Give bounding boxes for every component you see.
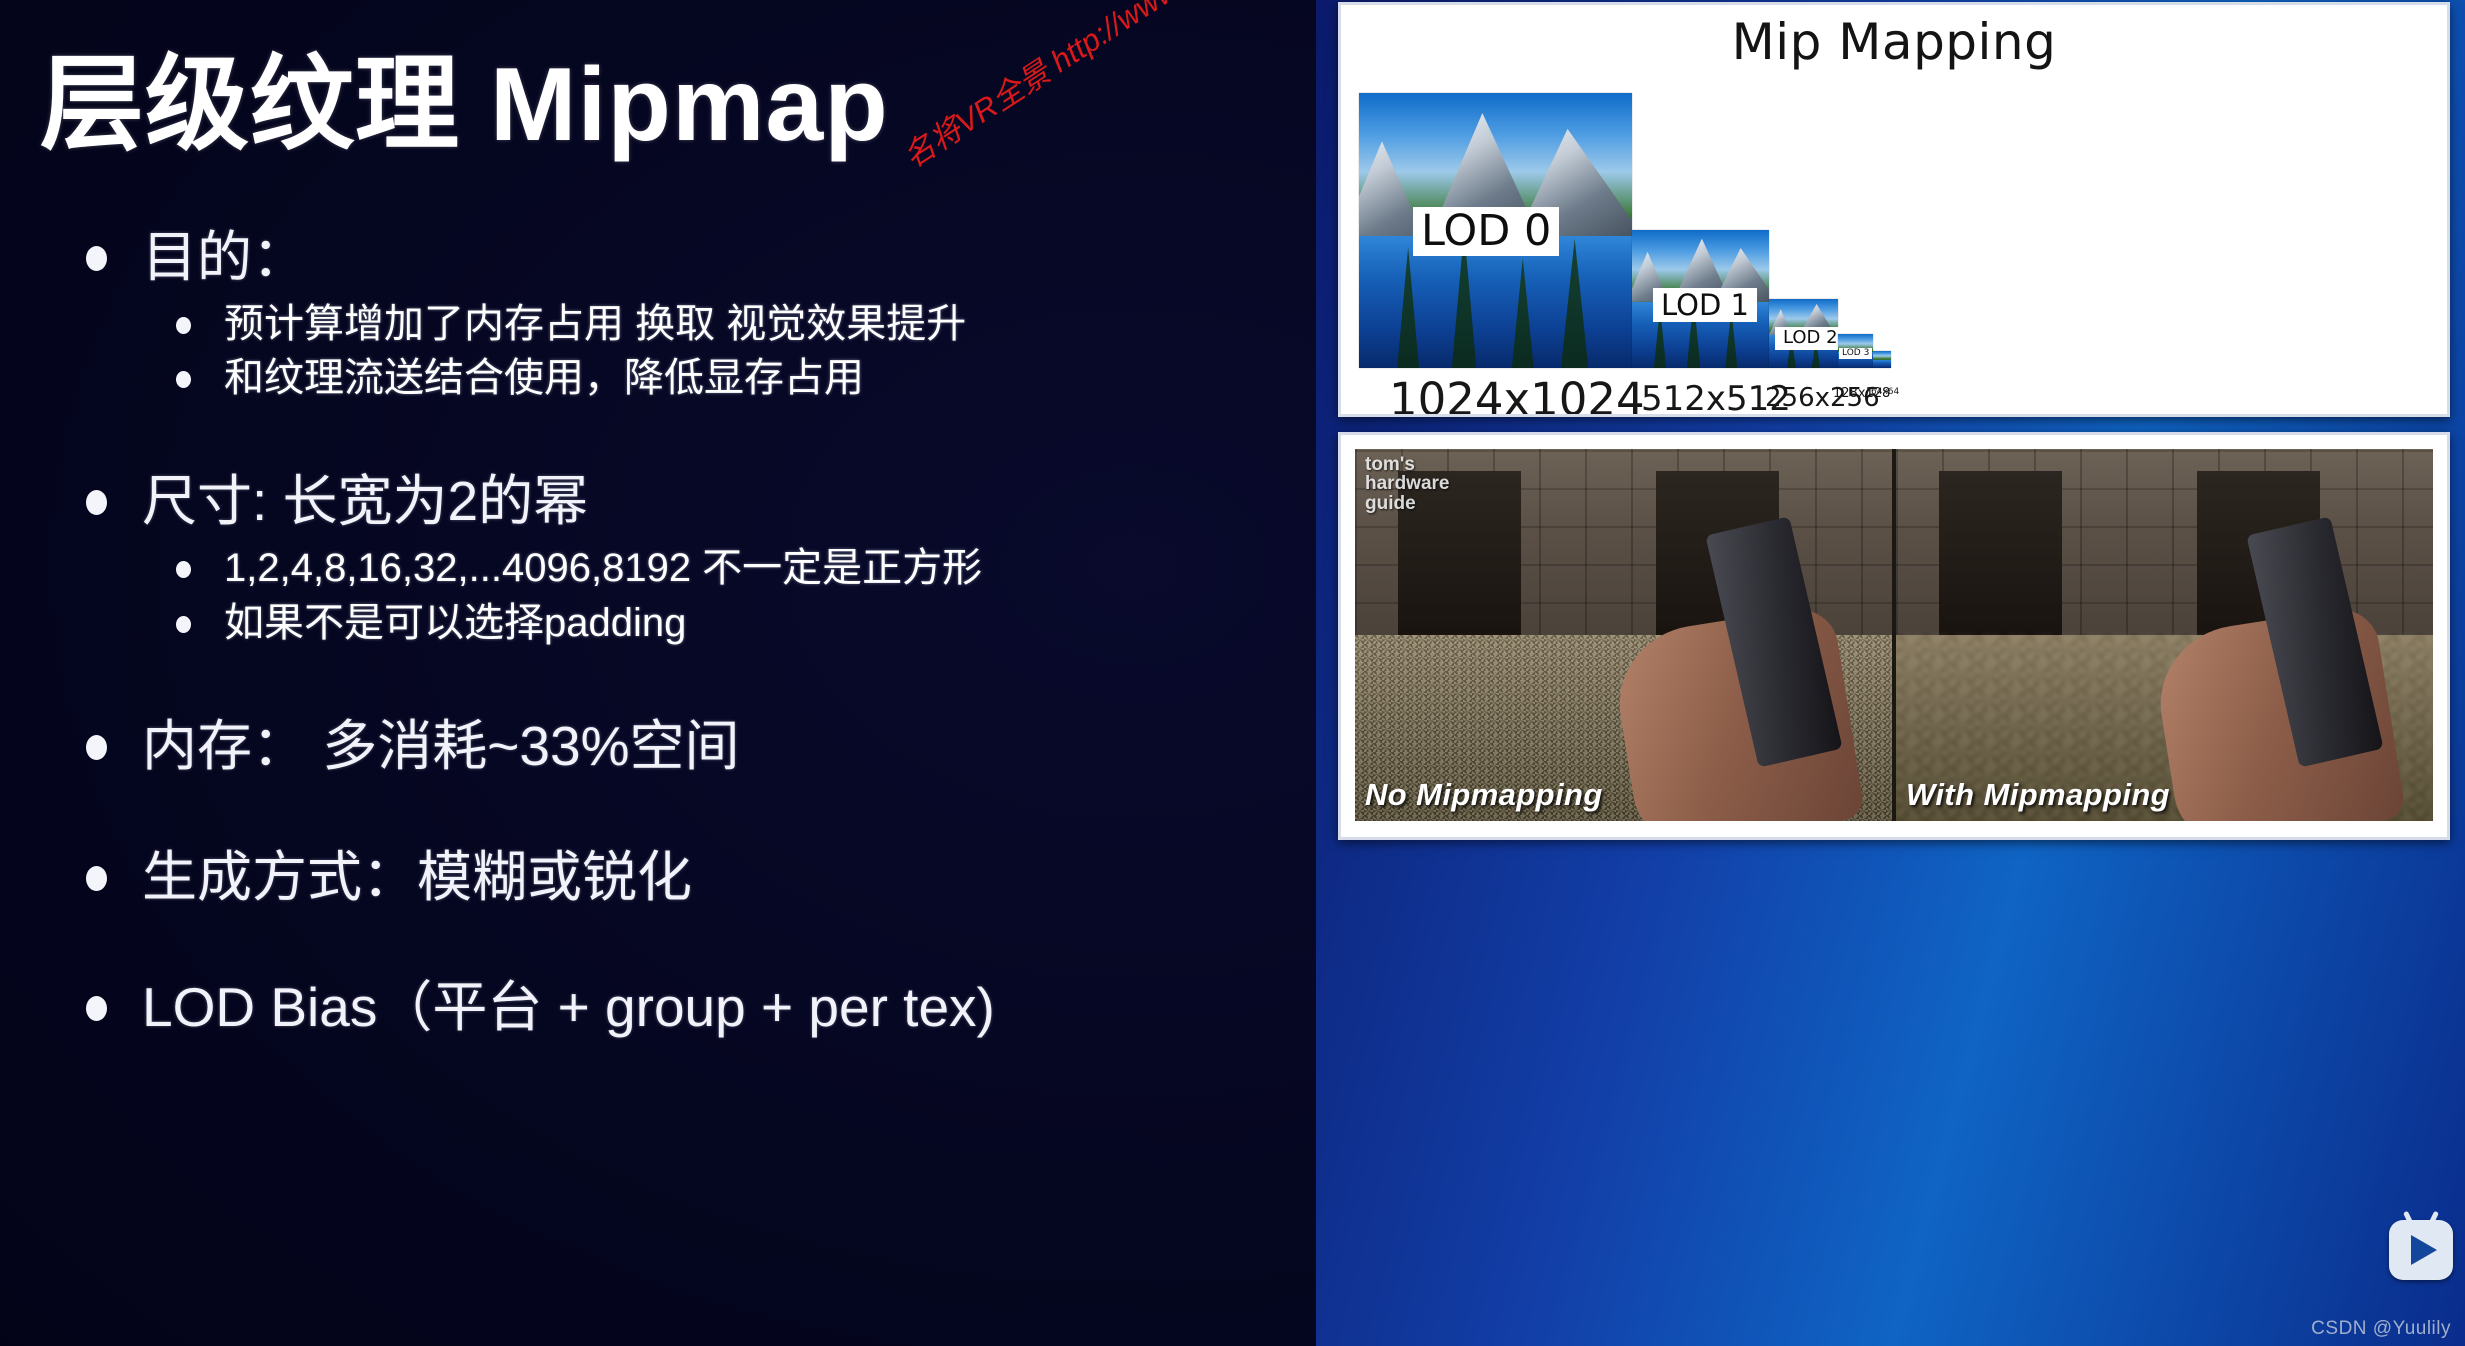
sub-bullet-label: 如果不是可以选择padding [224, 601, 686, 645]
page-title: 层级纹理 Mipmap [40, 44, 1300, 167]
bullet-dot-icon [86, 996, 107, 1021]
bullet-dot-icon [86, 246, 107, 271]
mountain-shape [1873, 351, 1891, 360]
bullet-memory: 内存： 多消耗~33%空间 [34, 714, 1300, 779]
game-comparison-inner: tom's hardware guide No Mipmapping With … [1355, 449, 2433, 821]
sub-bullet-label: 和纹理流送结合使用，降低显存占用 [224, 356, 864, 400]
slide-image-column: Mip Mapping LOD 0 1024x1024 [1316, 0, 2465, 1346]
mip-diagram-title: Mip Mapping [1341, 13, 2447, 71]
bullet-purpose: 目的： 预计算增加了内存占用 换取 视觉效果提升 和纹理流送结合使用，降低显存占… [34, 225, 1300, 403]
bullet-label: 尺寸: 长宽为2的幂 [142, 470, 588, 532]
toms-logo-line3: guide [1365, 494, 1449, 513]
bullet-list: 目的： 预计算增加了内存占用 换取 视觉效果提升 和纹理流送结合使用，降低显存占… [34, 225, 1300, 1041]
game-half-with-mipmap: With Mipmapping [1892, 449, 2433, 821]
with-mipmapping-label: With Mipmapping [1906, 777, 2170, 813]
csdn-watermark: CSDN @Yuulily [2311, 1318, 2451, 1340]
slide-text-column: 层级纹理 Mipmap 目的： 预计算增加了内存占用 换取 视觉效果提升 和纹理… [0, 0, 1320, 1346]
play-tv-widget-icon[interactable] [2389, 1220, 2453, 1280]
sub-bullet: 1,2,4,8,16,32,...4096,8192 不一定是正方形 [142, 544, 1300, 593]
bullet-generation: 生成方式：模糊或锐化 [34, 845, 1300, 910]
sub-bullet-dot-icon [176, 616, 191, 633]
door-shape [1939, 471, 2063, 642]
sub-bullet-label: 1,2,4,8,16,32,...4096,8192 不一定是正方形 [224, 546, 982, 590]
bullet-label: 目的： [142, 226, 307, 288]
slide-root: 层级纹理 Mipmap 目的： 预计算增加了内存占用 换取 视觉效果提升 和纹理… [0, 0, 2465, 1346]
sub-bullet-dot-icon [176, 317, 191, 334]
sub-bullet-dot-icon [176, 561, 191, 578]
antenna-left-icon [2403, 1211, 2414, 1227]
lod0-size-caption: 1024x1024 [1389, 373, 1645, 417]
bullet-size: 尺寸: 长宽为2的幂 1,2,4,8,16,32,...4096,8192 不一… [34, 469, 1300, 647]
toms-logo-line2: hardware [1365, 474, 1449, 493]
bullet-label: 内存： 多消耗~33%空间 [142, 715, 739, 777]
game-half-no-mipmap: tom's hardware guide No Mipmapping [1355, 449, 1892, 821]
toms-logo-line1: tom's [1365, 455, 1449, 474]
sub-bullet: 和纹理流送结合使用，降低显存占用 [142, 354, 1300, 403]
sub-bullet: 预计算增加了内存占用 换取 视觉效果提升 [142, 300, 1300, 349]
no-mipmapping-label: No Mipmapping [1365, 777, 1603, 813]
lod4-size-caption: 64x64 [1871, 387, 1899, 397]
lod0-tag: LOD 0 [1413, 207, 1559, 256]
toms-hardware-logo: tom's hardware guide [1365, 455, 1449, 513]
lod2-tag: LOD 2 [1775, 327, 1846, 350]
bullet-dot-icon [86, 866, 107, 891]
lod3-tag: LOD 3 [1839, 348, 1872, 359]
bullet-dot-icon [86, 735, 107, 760]
bullet-label: LOD Bias（平台 + group + per tex) [142, 976, 995, 1038]
sub-bullet-label: 预计算增加了内存占用 换取 视觉效果提升 [224, 302, 966, 346]
lod1-tag: LOD 1 [1653, 288, 1757, 322]
play-triangle-icon [2411, 1235, 2437, 1265]
sub-bullet-dot-icon [176, 371, 191, 388]
bullet-dot-icon [86, 490, 107, 515]
mipmap-comparison-screenshot: tom's hardware guide No Mipmapping With … [1338, 432, 2450, 840]
water-shape [1873, 360, 1891, 368]
mip-mapping-diagram: Mip Mapping LOD 0 1024x1024 [1338, 2, 2450, 417]
sub-bullet-list: 1,2,4,8,16,32,...4096,8192 不一定是正方形 如果不是可… [142, 544, 1300, 648]
bullet-label: 生成方式：模糊或锐化 [142, 846, 692, 908]
sub-bullet-list: 预计算增加了内存占用 换取 视觉效果提升 和纹理流送结合使用，降低显存占用 [142, 300, 1300, 404]
lod4-image [1873, 351, 1891, 368]
bullet-lod-bias: LOD Bias（平台 + group + per tex) [34, 975, 1300, 1040]
antenna-right-icon [2428, 1211, 2439, 1227]
sub-bullet: 如果不是可以选择padding [142, 599, 1300, 648]
